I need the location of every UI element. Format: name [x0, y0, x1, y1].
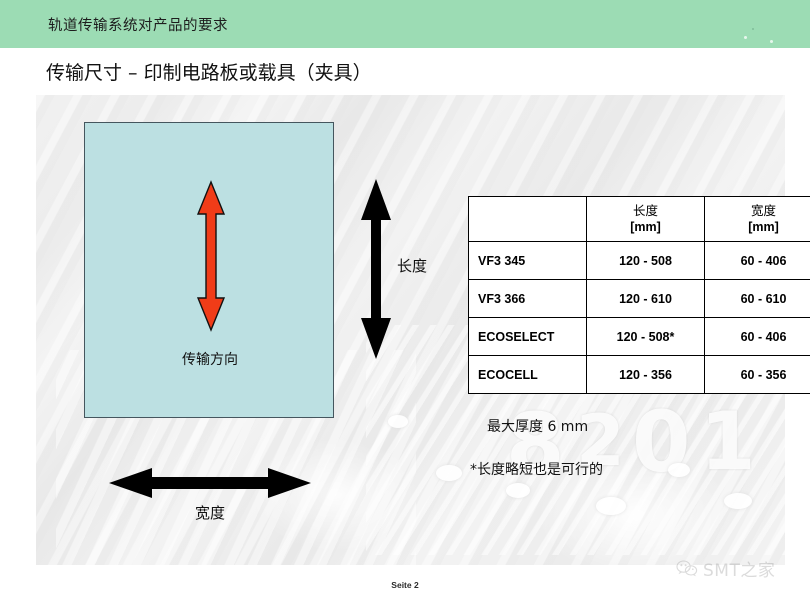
table-header-length-unit: [mm]: [630, 220, 661, 234]
length-footnote: *长度略短也是可行的: [470, 459, 603, 479]
transport-direction-label: 传输方向: [85, 349, 335, 369]
table-header-model: [469, 197, 587, 242]
header-band: 轨道传输系统对产品的要求: [0, 0, 810, 48]
page-number: Seite 2: [0, 580, 810, 590]
table-cell-model: ECOSELECT: [469, 318, 587, 356]
transport-direction-arrow-icon: [195, 180, 227, 332]
table-header-length: 长度 [mm]: [587, 197, 705, 242]
width-label: 宽度: [108, 502, 312, 523]
table-row: ECOSELECT 120 - 508* 60 - 406: [469, 318, 810, 356]
table-cell-model: VF3 366: [469, 280, 587, 318]
solder-pad-icon: [388, 415, 408, 428]
table-cell-length: 120 - 356: [587, 356, 705, 394]
table-cell-width: 60 - 406: [705, 242, 810, 280]
header-speck-icon: [752, 28, 754, 30]
solder-pad-icon: [668, 463, 690, 477]
table-cell-width: 60 - 406: [705, 318, 810, 356]
table-cell-model: ECOCELL: [469, 356, 587, 394]
table-cell-width: 60 - 356: [705, 356, 810, 394]
length-dimension-arrow-icon: [358, 178, 394, 360]
table-cell-model: VF3 345: [469, 242, 587, 280]
length-label: 长度: [397, 255, 427, 276]
table-cell-length: 120 - 508: [587, 242, 705, 280]
max-thickness-note: 最大厚度 6 mm: [487, 416, 588, 436]
wechat-icon: [676, 560, 698, 578]
table-header-width: 宽度 [mm]: [705, 197, 810, 242]
table-row: VF3 366 120 - 610 60 - 610: [469, 280, 810, 318]
table-header-width-unit: [mm]: [748, 220, 779, 234]
specification-table: 长度 [mm] 宽度 [mm] VF3 345 120 - 508 60 - 4…: [468, 196, 810, 394]
table-header-width-label: 宽度: [751, 203, 776, 218]
slide-canvas: 轨道传输系统对产品的要求 传输尺寸 – 印制电路板或载具（夹具） 8 2 0 1…: [0, 0, 810, 605]
header-speck-icon: [770, 40, 773, 43]
table-cell-length: 120 - 508*: [587, 318, 705, 356]
solder-pad-icon: [724, 493, 752, 509]
header-speck-icon: [744, 36, 747, 39]
table-row: ECOCELL 120 - 356 60 - 356: [469, 356, 810, 394]
watermark: SMT之家: [676, 556, 775, 581]
table-header-length-label: 长度: [633, 203, 658, 218]
solder-pad-icon: [436, 465, 462, 481]
watermark-text: SMT之家: [703, 556, 775, 581]
photo-ghost-digit: 1: [700, 395, 756, 488]
header-title: 轨道传输系统对产品的要求: [48, 14, 228, 35]
width-dimension-arrow-icon: [108, 466, 312, 500]
table-cell-length: 120 - 610: [587, 280, 705, 318]
page-title: 传输尺寸 – 印制电路板或载具（夹具）: [46, 58, 372, 85]
table-header-row: 长度 [mm] 宽度 [mm]: [469, 197, 810, 242]
solder-pad-icon: [596, 497, 626, 515]
table-cell-width: 60 - 610: [705, 280, 810, 318]
table-row: VF3 345 120 - 508 60 - 406: [469, 242, 810, 280]
solder-pad-icon: [506, 483, 530, 498]
